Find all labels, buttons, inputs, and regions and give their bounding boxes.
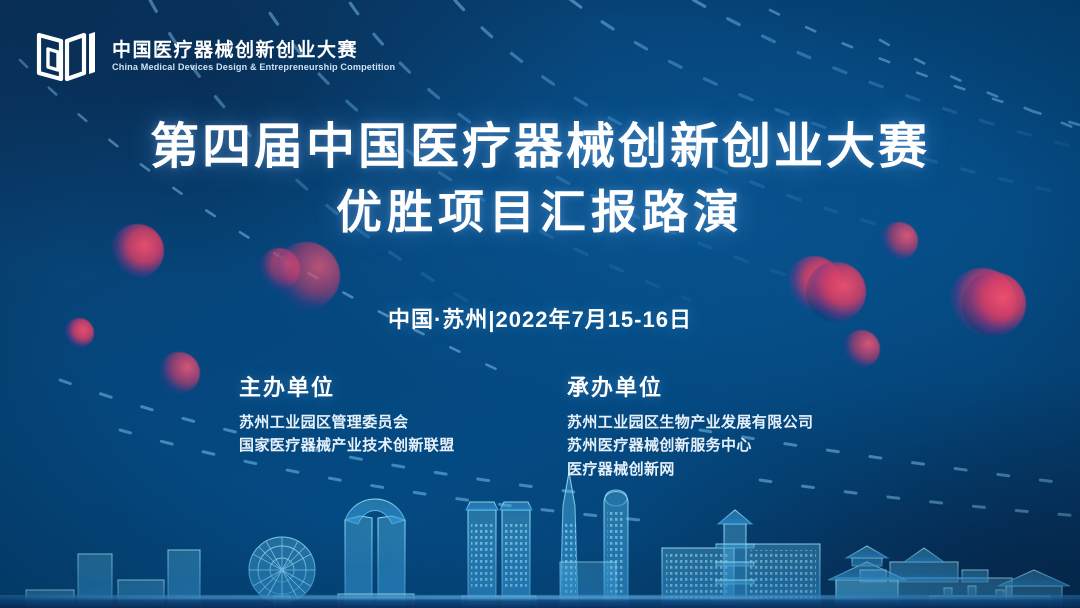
event-poster: 中国医疗器械创新创业大赛 China Medical Devices Desig… [0,0,1080,608]
poster-title-group: 第四届中国医疗器械创新创业大赛 优胜项目汇报路演 [0,122,1080,237]
brand-name-en: China Medical Devices Design & Entrepren… [112,63,395,73]
cohost-item: 苏州工业园区生物产业发展有限公司 [567,411,855,434]
host-item: 国家医疗器械产业技术创新联盟 [239,434,555,457]
open-door-book-logo-icon [36,28,98,86]
sphere-5 [272,242,340,310]
host-item: 苏州工业园区管理委员会 [239,411,555,434]
brand-lockup: 中国医疗器械创新创业大赛 China Medical Devices Desig… [36,28,407,86]
host-column: 主办单位 苏州工业园区管理委员会 国家医疗器械产业技术创新联盟 [225,370,555,481]
host-heading: 主办单位 [239,370,555,402]
sphere-2 [258,248,300,290]
title-line-2: 优胜项目汇报路演 [0,188,1080,237]
brand-name-cn: 中国医疗器械创新创业大赛 [112,41,407,60]
organizer-section: 主办单位 苏州工业园区管理委员会 国家医疗器械产业技术创新联盟 承办单位 苏州工… [0,370,1080,481]
sphere-9 [842,330,880,368]
horizon-glow [0,596,1080,599]
cohost-heading: 承办单位 [567,370,855,402]
cohost-column: 承办单位 苏州工业园区生物产业发展有限公司 苏州医疗器械创新服务中心 医疗器械创… [555,370,855,481]
title-line-1: 第四届中国医疗器械创新创业大赛 [0,122,1080,174]
cohost-item: 苏州医疗器械创新服务中心 [567,434,855,457]
location-date: 中国·苏州|2022年7月15-16日 [0,302,1080,334]
cohost-item: 医疗器械创新网 [567,458,855,481]
